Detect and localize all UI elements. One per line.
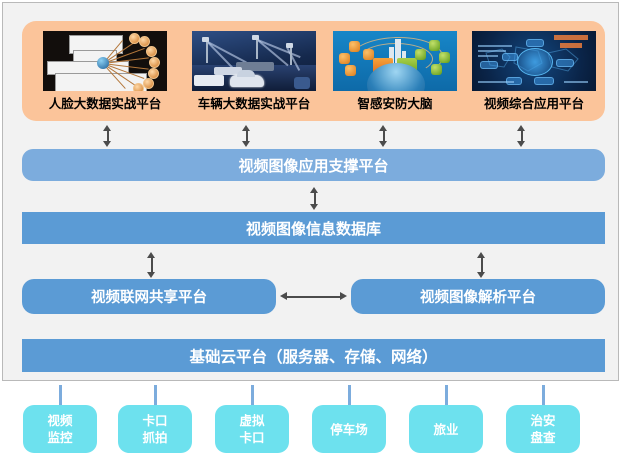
application-layer-panel: 人脸大数据实战平台 车 xyxy=(22,21,605,121)
arrow-app-to-support-2 xyxy=(241,125,252,147)
layer-video-image-database[interactable]: 视频图像信息数据库 xyxy=(22,212,605,244)
source-box-checkpoint-capture[interactable]: 卡口 抓拍 xyxy=(118,405,192,453)
app-card-label: 车辆大数据实战平台 xyxy=(192,91,316,117)
source-label-line-1: 视频 xyxy=(47,412,72,429)
arrow-app-to-support-1 xyxy=(102,125,113,147)
layer-support-platform[interactable]: 视频图像应用支撑平台 xyxy=(22,149,605,181)
source-box-public-security-check[interactable]: 治安 盘查 xyxy=(506,405,580,453)
source-label-line-1: 虚拟 xyxy=(239,412,264,429)
video-integrated-dashboard-thumbnail xyxy=(472,31,596,91)
source-box-hospitality[interactable]: 旅业 xyxy=(409,405,483,453)
vehicle-bigdata-highway-thumbnail xyxy=(192,31,316,91)
source-label-line-2: 监控 xyxy=(47,429,72,446)
layer-sharing-platform-label: 视频联网共享平台 xyxy=(91,286,207,307)
source-label-line-1: 停车场 xyxy=(330,421,368,438)
connector-line-source-3 xyxy=(251,385,254,405)
arrow-sharing-to-analysis xyxy=(280,291,347,302)
layer-video-analysis-platform[interactable]: 视频图像解析平台 xyxy=(351,279,605,314)
connector-line-source-2 xyxy=(154,385,157,405)
app-card-video-integrated[interactable]: 视频综合应用平台 xyxy=(472,31,596,119)
architecture-diagram-frame: 人脸大数据实战平台 车 xyxy=(2,2,619,381)
app-card-label: 视频综合应用平台 xyxy=(472,91,596,117)
layer-analysis-platform-label: 视频图像解析平台 xyxy=(420,286,536,307)
smart-security-brain-globe-thumbnail xyxy=(333,31,457,91)
arrow-app-to-support-3 xyxy=(378,125,389,147)
app-card-label: 智感安防大脑 xyxy=(333,91,457,117)
source-label-line-1: 卡口 xyxy=(142,412,167,429)
source-box-video-surveillance[interactable]: 视频 监控 xyxy=(23,405,97,453)
arrow-database-to-sharing xyxy=(146,252,157,278)
app-card-vehicle-bigdata[interactable]: 车辆大数据实战平台 xyxy=(192,31,316,119)
connector-line-source-6 xyxy=(542,385,545,405)
layer-video-sharing-platform[interactable]: 视频联网共享平台 xyxy=(22,279,276,314)
layer-support-platform-label: 视频图像应用支撑平台 xyxy=(238,155,388,176)
app-card-label: 人脸大数据实战平台 xyxy=(43,91,167,117)
source-label-line-2: 卡口 xyxy=(239,429,264,446)
source-box-parking-lot[interactable]: 停车场 xyxy=(312,405,386,453)
arrow-app-to-support-4 xyxy=(516,125,527,147)
arrow-database-to-analysis xyxy=(476,252,487,278)
source-label-line-1: 旅业 xyxy=(433,421,458,438)
arrow-support-to-database xyxy=(309,187,320,210)
app-card-face-bigdata[interactable]: 人脸大数据实战平台 xyxy=(43,31,167,119)
source-label-line-2: 抓拍 xyxy=(142,429,167,446)
source-label-line-2: 盘查 xyxy=(530,429,555,446)
layer-cloud-platform[interactable]: 基础云平台（服务器、存储、网络） xyxy=(22,339,605,372)
source-label-line-1: 治安 xyxy=(530,412,555,429)
face-bigdata-screenshot-thumbnail xyxy=(43,31,167,91)
app-card-security-brain[interactable]: 智感安防大脑 xyxy=(333,31,457,119)
layer-database-label: 视频图像信息数据库 xyxy=(246,218,381,239)
connector-line-source-5 xyxy=(445,385,448,405)
connector-line-source-1 xyxy=(59,385,62,405)
layer-cloud-platform-label: 基础云平台（服务器、存储、网络） xyxy=(189,345,437,367)
connector-line-source-4 xyxy=(348,385,351,405)
source-box-virtual-checkpoint[interactable]: 虚拟 卡口 xyxy=(215,405,289,453)
